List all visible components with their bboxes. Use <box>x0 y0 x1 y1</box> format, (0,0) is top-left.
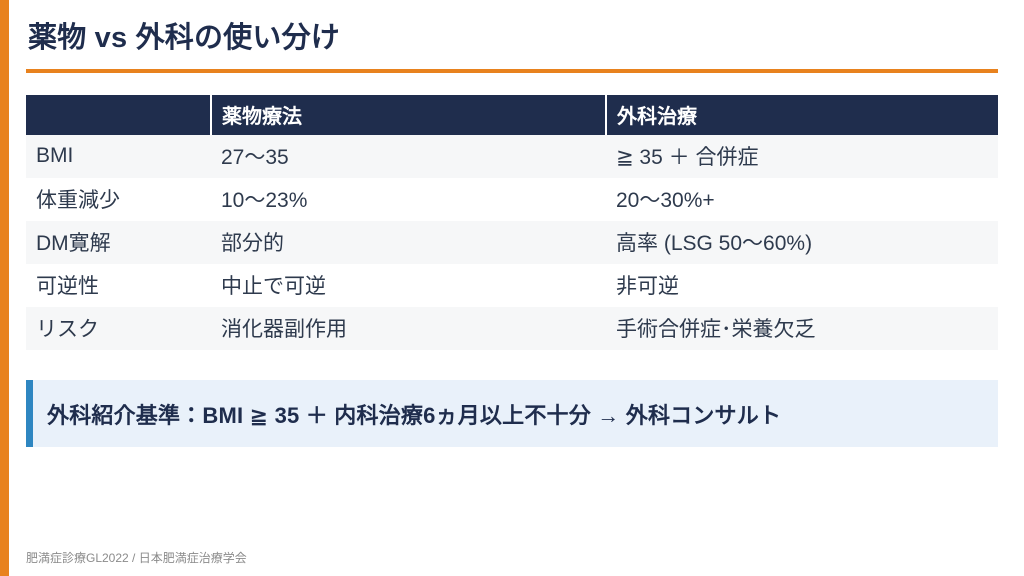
comparison-table: 薬物療法 外科治療 BMI 27〜35 ≧ 35 ＋ 合併症 体重減少 10〜2… <box>26 95 998 350</box>
row-label: リスク <box>26 307 211 350</box>
row-value-drug: 27〜35 <box>211 135 606 178</box>
row-value-surgery: 手術合併症･栄養欠乏 <box>606 307 998 350</box>
callout-box: 外科紹介基準：BMI ≧ 35 ＋ 内科治療6ヵ月以上不十分 → 外科コンサルト <box>26 380 998 447</box>
table-header-cell-drug: 薬物療法 <box>211 95 606 135</box>
table-row: 可逆性 中止で可逆 非可逆 <box>26 264 998 307</box>
row-value-surgery: ≧ 35 ＋ 合併症 <box>606 135 998 178</box>
row-value-surgery: 高率 (LSG 50〜60%) <box>606 221 998 264</box>
table-row: リスク 消化器副作用 手術合併症･栄養欠乏 <box>26 307 998 350</box>
left-accent-bar <box>0 0 9 576</box>
table-header-row: 薬物療法 外科治療 <box>26 95 998 135</box>
callout-text: 外科紹介基準：BMI ≧ 35 ＋ 内科治療6ヵ月以上不十分 → 外科コンサルト <box>33 398 781 430</box>
row-value-drug: 中止で可逆 <box>211 264 606 307</box>
footer-source: 肥満症診療GL2022 / 日本肥満症治療学会 <box>26 549 247 566</box>
row-label: 可逆性 <box>26 264 211 307</box>
row-label: 体重減少 <box>26 178 211 221</box>
row-value-surgery: 非可逆 <box>606 264 998 307</box>
row-value-surgery: 20〜30%+ <box>606 178 998 221</box>
row-label: DM寛解 <box>26 221 211 264</box>
table-row: DM寛解 部分的 高率 (LSG 50〜60%) <box>26 221 998 264</box>
table-row: 体重減少 10〜23% 20〜30%+ <box>26 178 998 221</box>
row-value-drug: 10〜23% <box>211 178 606 221</box>
table-header-cell-blank <box>26 95 211 135</box>
table-row: BMI 27〜35 ≧ 35 ＋ 合併症 <box>26 135 998 178</box>
table-header-cell-surgery: 外科治療 <box>606 95 998 135</box>
row-label: BMI <box>26 135 211 178</box>
page-title: 薬物 vs 外科の使い分け <box>28 14 340 56</box>
row-value-drug: 消化器副作用 <box>211 307 606 350</box>
row-value-drug: 部分的 <box>211 221 606 264</box>
title-divider <box>26 69 998 73</box>
